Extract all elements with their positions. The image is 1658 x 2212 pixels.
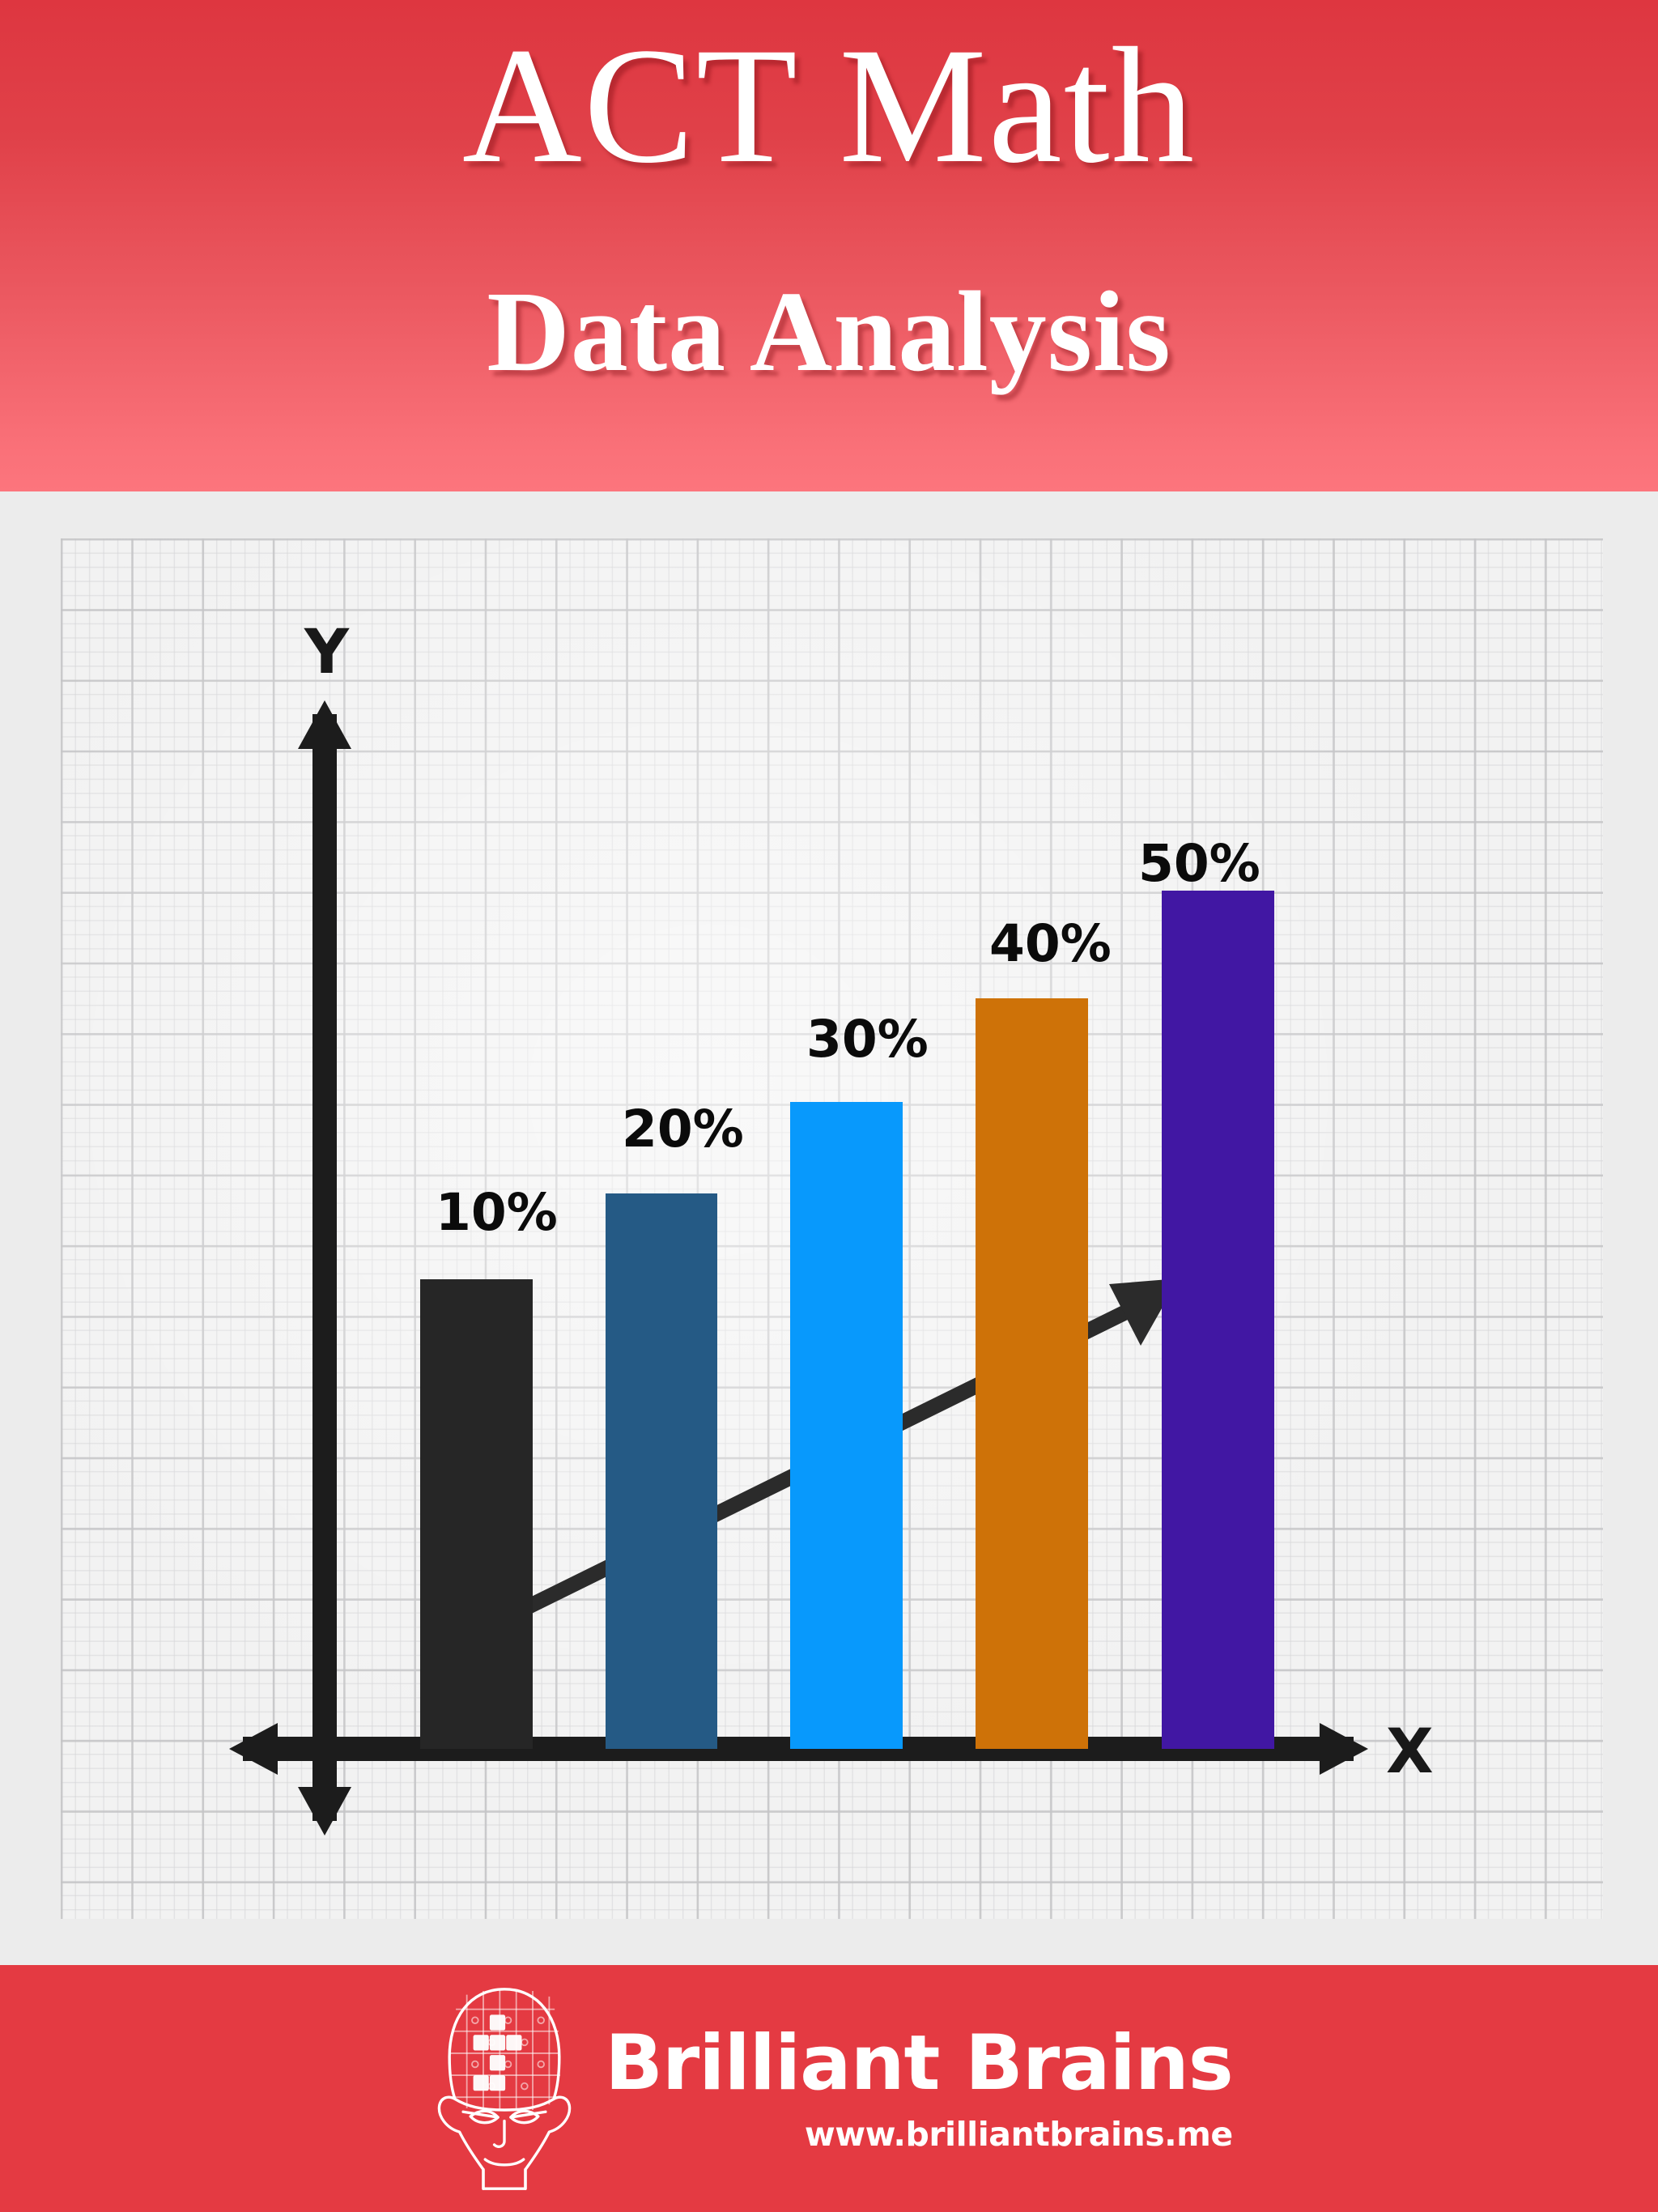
- y-axis: [298, 700, 351, 1836]
- footer-bar: Brilliant Brains www.brilliantbrains.me: [0, 1965, 1658, 2212]
- bar-1: [420, 1279, 533, 1749]
- bar-2: [606, 1193, 717, 1749]
- page-title: ACT Math: [0, 23, 1658, 189]
- bar-3: [790, 1102, 903, 1749]
- brand-text-block: Brilliant Brains www.brilliantbrains.me: [605, 2026, 1232, 2151]
- header-banner: ACT Math Data Analysis: [0, 0, 1658, 491]
- page-subtitle: Data Analysis: [0, 274, 1658, 389]
- bar-4: [976, 998, 1088, 1749]
- bar-label-1: 10%: [436, 1187, 558, 1238]
- brand-url[interactable]: www.brilliantbrains.me: [805, 2118, 1233, 2151]
- bar-chart: Y X 10% 20% 30% 40% 50%: [0, 491, 1658, 1965]
- bar-label-3: 30%: [806, 1014, 929, 1065]
- bar-5: [1162, 891, 1274, 1749]
- brand-name: Brilliant Brains: [605, 2026, 1232, 2102]
- bar-label-2: 20%: [622, 1104, 744, 1155]
- brand-block: Brilliant Brains www.brilliantbrains.me: [0, 1965, 1658, 2212]
- bar-label-5: 50%: [1138, 838, 1261, 889]
- chart-panel: Y X 10% 20% 30% 40% 50%: [0, 491, 1658, 1965]
- x-axis-label: X: [1386, 1721, 1434, 1782]
- puzzle-brain-head-icon: [425, 1984, 584, 2194]
- y-axis-label: Y: [304, 621, 349, 683]
- bar-label-4: 40%: [989, 918, 1112, 969]
